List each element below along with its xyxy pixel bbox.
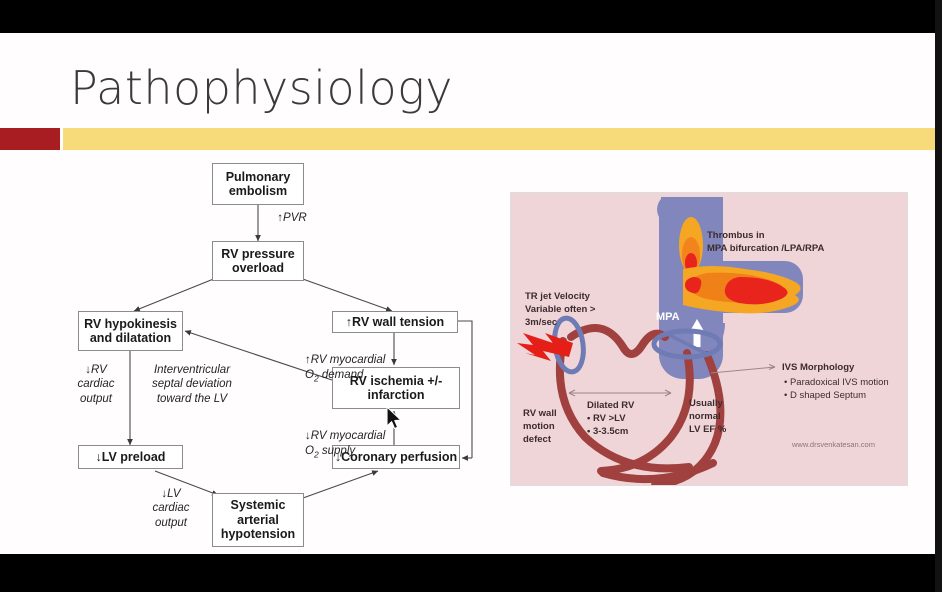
label-thrombus: Thrombus in MPA bifurcation /LPA/RPA bbox=[707, 229, 897, 255]
ivs-pointer-line bbox=[711, 365, 775, 374]
flow-box-pulmonary-embolism: Pulmonary embolism bbox=[212, 163, 304, 205]
flow-box-lv-preload: ↓LV preload bbox=[78, 445, 183, 469]
flow-box-label: Pulmonary embolism bbox=[226, 170, 291, 199]
label-ivs-morphology-bullets: • Paradoxical IVS motion • D shaped Sept… bbox=[784, 376, 904, 402]
flow-box-rv-wall-tension: ↑RV wall tension bbox=[332, 311, 458, 333]
flow-box-rv-hypokinesis: RV hypokinesis and dilatation bbox=[78, 311, 183, 351]
o2-demand-text: ↑RV myocardial O2 demand bbox=[305, 354, 385, 380]
flow-label-o2-demand: ↑RV myocardial O2 demand bbox=[305, 339, 417, 384]
flow-box-label: Systemic arterial hypotension bbox=[221, 498, 295, 541]
flow-label-pvr: ↑PVR bbox=[262, 211, 322, 225]
flow-box-label: ↑RV wall tension bbox=[346, 315, 444, 329]
pathophysiology-flowchart: Pulmonary embolism RV pressure overload … bbox=[0, 153, 500, 553]
slide-surface: Pathophysiology bbox=[0, 33, 935, 554]
watermark-text: www.drsvenkatesan.com bbox=[792, 440, 875, 449]
flow-box-label: ↓LV preload bbox=[96, 450, 166, 464]
anatomy-illustration: Thrombus in MPA bifurcation /LPA/RPA TR … bbox=[510, 192, 908, 486]
flow-label-lv-cardiac-output: ↓LV cardiac output bbox=[140, 487, 202, 530]
accent-bar-yellow bbox=[63, 128, 935, 150]
dilated-rv-measure bbox=[569, 390, 671, 396]
flow-box-label: RV hypokinesis and dilatation bbox=[84, 317, 177, 346]
accent-block-red bbox=[0, 128, 60, 150]
flow-label-rv-cardiac-output: ↓RV cardiac output bbox=[68, 363, 124, 406]
o2-supply-text: ↓RV myocardial O2 supply bbox=[305, 430, 385, 456]
thrombus-trunk bbox=[679, 217, 703, 273]
flow-box-label: RV pressure overload bbox=[221, 247, 294, 276]
window-right-edge bbox=[935, 0, 942, 592]
flow-box-systemic-hypotension: Systemic arterial hypotension bbox=[212, 493, 304, 547]
label-rv-wall-motion-defect: RV wall motion defect bbox=[523, 407, 583, 446]
tr-jet-arrow-icon bbox=[517, 333, 573, 361]
label-tr-jet: TR jet Velocity Variable often > 3m/sec bbox=[525, 290, 635, 329]
flow-box-rv-pressure-overload: RV pressure overload bbox=[212, 241, 304, 281]
letterbox-top bbox=[0, 0, 942, 33]
label-ivs-morphology-title: IVS Morphology bbox=[782, 361, 902, 374]
mouse-pointer-icon bbox=[385, 406, 405, 432]
screenshot-root: Pathophysiology bbox=[0, 0, 942, 592]
page-title: Pathophysiology bbox=[70, 61, 453, 115]
label-dilated-rv: Dilated RV • RV >LV • 3-3.5cm bbox=[587, 399, 677, 438]
label-lv-ef: Usually normal LV EF % bbox=[689, 397, 751, 436]
flow-label-septal-deviation: Interventricular septal deviation toward… bbox=[134, 363, 250, 406]
label-mpa: MPA bbox=[656, 311, 680, 323]
letterbox-bottom bbox=[0, 554, 942, 592]
